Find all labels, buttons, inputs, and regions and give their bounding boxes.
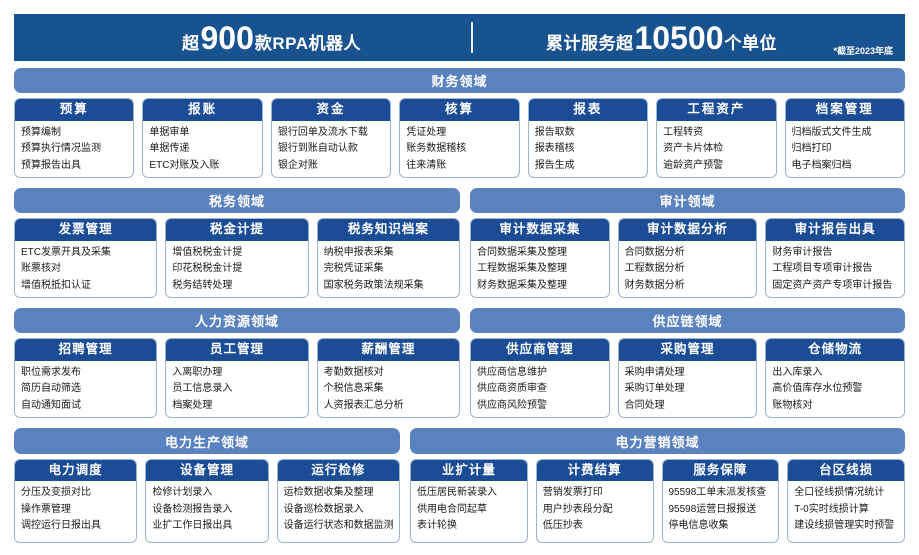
card-item: 凭证处理	[406, 126, 512, 141]
section-cards-power-marketing: 业扩计量 低压居民新装录入 供用电合同起草 表计轮换 计费结算 营销发票打印 用…	[410, 459, 905, 543]
section-supply-chain: 供应链领域 供应商管理 供应商信息维护 供应商资质审查 供应商风险预警 采购管理…	[470, 308, 905, 418]
card-title: 台区线损	[788, 460, 904, 481]
card-item: 出入库录入	[772, 366, 898, 381]
card-compensation-management[interactable]: 薪酬管理 考勤数据核对 个税信息采集 人资报表汇总分析	[317, 338, 460, 418]
card-item: 调控运行日报出具	[21, 519, 130, 534]
card-item: 低压居民新装录入	[417, 486, 521, 501]
card-body: ETC发票开具及采集 账票核对 增值税抵扣认证	[15, 241, 156, 298]
card-equipment-management[interactable]: 设备管理 检修计划录入 设备检测报告录入 业扩工作日报出具	[145, 459, 268, 543]
card-item: 预算编制	[21, 126, 127, 141]
card-item: 报告生成	[535, 159, 641, 174]
stat-service-number: 10500	[634, 22, 725, 54]
card-body: 分压及变损对比 操作票管理 调控运行日报出具	[15, 481, 136, 542]
card-body: 报告取数 报表稽核 报告生成	[529, 121, 647, 178]
section-cards-supply-chain: 供应商管理 供应商信息维护 供应商资质审查 供应商风险预警 采购管理 采购申请处…	[470, 338, 905, 418]
card-item: 固定资产资产专项审计报告	[772, 279, 898, 294]
card-body: 纳税申报表采集 完税凭证采集 国家税务政策法规采集	[318, 241, 459, 298]
card-body: 工程转资 资产卡片体检 逾龄资产预警	[657, 121, 775, 178]
card-body: 合同数据分析 工程数据分析 财务数据分析	[619, 241, 757, 298]
section-title-power-marketing: 电力营销领域	[410, 428, 905, 454]
card-item: 财务审计报告	[772, 246, 898, 261]
section-tax: 税务领域 发票管理 ETC发票开具及采集 账票核对 增值税抵扣认证 税金计提 增…	[14, 188, 460, 298]
section-cards-hr: 招聘管理 职位需求发布 简历自动筛选 自动通知面试 员工管理 入离职办理 员工信…	[14, 338, 460, 418]
card-body: 采购申请处理 采购订单处理 合同处理	[619, 361, 757, 418]
card-business-expansion-metering[interactable]: 业扩计量 低压居民新装录入 供用电合同起草 表计轮换	[410, 459, 528, 543]
card-title: 核算	[400, 99, 518, 120]
card-title: 薪酬管理	[318, 339, 459, 360]
card-item: 报告取数	[535, 126, 641, 141]
card-item: 银行回单及流水下载	[278, 126, 384, 141]
card-item: 自动通知面试	[21, 399, 150, 414]
card-body: 银行回单及流水下载 银行到账自动认款 银企对账	[272, 121, 390, 178]
card-item: 人资报表汇总分析	[324, 399, 453, 414]
card-title: 电力调度	[15, 460, 136, 481]
card-item: 采购申请处理	[625, 366, 751, 381]
card-item: 个税信息采集	[324, 382, 453, 397]
card-item: 财务数据采集及整理	[477, 279, 603, 294]
card-item: ETC发票开具及采集	[21, 246, 150, 261]
top-stats-inner: 超 900 款RPA机器人 累计服务超 10500 个单位 *截至2023年底	[14, 14, 905, 61]
card-title: 税务知识档案	[318, 219, 459, 240]
card-body: 凭证处理 账务数据稽核 往来清账	[400, 121, 518, 178]
card-item: 工程数据采集及整理	[477, 262, 603, 277]
stat-robot-prefix: 超	[182, 35, 200, 52]
card-item: 账物核对	[772, 399, 898, 414]
card-body: 出入库录入 高价值库存水位预警 账物核对	[766, 361, 904, 418]
card-title: 税金计提	[166, 219, 307, 240]
card-title: 预算	[15, 99, 133, 120]
card-service-assurance[interactable]: 服务保障 95598工单未派发核查 95598运营日报报送 停电信息收集	[662, 459, 780, 543]
card-item: 归档版式文件生成	[792, 126, 898, 141]
card-item: 分压及变损对比	[21, 486, 130, 501]
card-title: 审计数据采集	[471, 219, 609, 240]
card-accounting[interactable]: 核算 凭证处理 账务数据稽核 往来清账	[399, 98, 519, 178]
card-title: 发票管理	[15, 219, 156, 240]
card-employee-management[interactable]: 员工管理 入离职办理 员工信息录入 档案处理	[165, 338, 308, 418]
card-item: 税务结转处理	[172, 279, 301, 294]
section-title-supply-chain: 供应链领域	[470, 308, 905, 333]
card-body: 财务审计报告 工程项目专项审计报告 固定资产资产专项审计报告	[766, 241, 904, 298]
card-item: 合同数据分析	[625, 246, 751, 261]
card-item: T-0实时线损计算	[794, 503, 898, 518]
card-reports[interactable]: 报表 报告取数 报表稽核 报告生成	[528, 98, 648, 178]
card-item: 设备检测报告录入	[152, 503, 261, 518]
card-audit-data-collection[interactable]: 审计数据采集 合同数据采集及整理 工程数据采集及整理 财务数据采集及整理	[470, 218, 610, 298]
section-cards-tax: 发票管理 ETC发票开具及采集 账票核对 增值税抵扣认证 税金计提 增值税税金计…	[14, 218, 460, 298]
card-item: 国家税务政策法规采集	[324, 279, 453, 294]
card-procurement-management[interactable]: 采购管理 采购申请处理 采购订单处理 合同处理	[618, 338, 758, 418]
card-item: 供应商资质审查	[477, 382, 603, 397]
row-finance: 财务领域 预算 预算编制 预算执行情况监测 预算报告出具 报账 单据审单 单据传…	[14, 68, 905, 178]
card-title: 服务保障	[663, 460, 779, 481]
card-item: 档案处理	[172, 399, 301, 414]
card-item: 银行到账自动认款	[278, 142, 384, 157]
card-body: 供应商信息维护 供应商资质审查 供应商风险预警	[471, 361, 609, 418]
card-item: 预算执行情况监测	[21, 142, 127, 157]
card-title: 业扩计量	[411, 460, 527, 481]
card-recruitment-management[interactable]: 招聘管理 职位需求发布 简历自动筛选 自动通知面试	[14, 338, 157, 418]
card-body: 单据审单 单据传递 ETC对账及入账	[143, 121, 261, 178]
card-item: 职位需求发布	[21, 366, 150, 381]
card-body: 归档版式文件生成 归档打印 电子档案归档	[786, 121, 904, 178]
card-item: 账务数据稽核	[406, 142, 512, 157]
section-cards-finance: 预算 预算编制 预算执行情况监测 预算报告出具 报账 单据审单 单据传递 ETC…	[14, 98, 905, 178]
card-item: 完税凭证采集	[324, 262, 453, 277]
card-body: 预算编制 预算执行情况监测 预算报告出具	[15, 121, 133, 178]
card-item: 采购订单处理	[625, 382, 751, 397]
card-item: 运检数据收集及整理	[284, 486, 393, 501]
as-of-date-note: *截至2023年底	[833, 44, 893, 57]
card-body: 95598工单未派发核查 95598运营日报报送 停电信息收集	[663, 481, 779, 542]
card-item: 用户抄表段分配	[543, 503, 647, 518]
section-title-hr: 人力资源领域	[14, 308, 460, 333]
card-item: 银企对账	[278, 159, 384, 174]
card-item: 往来清账	[406, 159, 512, 174]
card-title: 档案管理	[786, 99, 904, 120]
card-body: 入离职办理 员工信息录入 档案处理	[166, 361, 307, 418]
card-item: 高价值库存水位预警	[772, 382, 898, 397]
stat-robot-number: 900	[200, 22, 255, 54]
card-body: 营销发票打印 用户抄表段分配 低压抄表	[537, 481, 653, 542]
card-item: 设备运行状态和数据监测	[284, 519, 393, 534]
section-title-finance: 财务领域	[14, 68, 905, 93]
stat-service-count: 累计服务超 10500 个单位	[546, 22, 777, 54]
card-reimbursement[interactable]: 报账 单据审单 单据传递 ETC对账及入账	[142, 98, 262, 178]
card-item: 单据审单	[149, 126, 255, 141]
card-item: 建设线损管理实时预警	[794, 519, 898, 534]
card-title: 设备管理	[146, 460, 267, 481]
card-body: 检修计划录入 设备检测报告录入 业扩工作日报出具	[146, 481, 267, 542]
card-item: 预算报告出具	[21, 159, 127, 174]
card-body: 考勤数据核对 个税信息采集 人资报表汇总分析	[318, 361, 459, 418]
section-title-power-production: 电力生产领域	[14, 428, 400, 454]
card-item: 设备巡检数据录入	[284, 503, 393, 518]
card-power-dispatch[interactable]: 电力调度 分压及变损对比 操作票管理 调控运行日报出具	[14, 459, 137, 543]
card-title: 报表	[529, 99, 647, 120]
card-title: 报账	[143, 99, 261, 120]
card-item: 逾龄资产预警	[663, 159, 769, 174]
card-title: 员工管理	[166, 339, 307, 360]
card-body: 全口径线损情况统计 T-0实时线损计算 建设线损管理实时预警	[788, 481, 904, 542]
card-item: 工程转资	[663, 126, 769, 141]
card-body: 合同数据采集及整理 工程数据采集及整理 财务数据采集及整理	[471, 241, 609, 298]
card-billing-settlement[interactable]: 计费结算 营销发票打印 用户抄表段分配 低压抄表	[536, 459, 654, 543]
card-title: 审计报告出具	[766, 219, 904, 240]
card-item: 资产卡片体检	[663, 142, 769, 157]
card-audit-report-issue[interactable]: 审计报告出具 财务审计报告 工程项目专项审计报告 固定资产资产专项审计报告	[765, 218, 905, 298]
card-item: 全口径线损情况统计	[794, 486, 898, 501]
card-title: 计费结算	[537, 460, 653, 481]
section-hr: 人力资源领域 招聘管理 职位需求发布 简历自动筛选 自动通知面试 员工管理 入离…	[14, 308, 460, 418]
section-power-marketing: 电力营销领域 业扩计量 低压居民新装录入 供用电合同起草 表计轮换 计费结算 营…	[410, 428, 905, 543]
stat-robot-suffix: 款RPA机器人	[255, 35, 361, 52]
card-archive-management[interactable]: 档案管理 归档版式文件生成 归档打印 电子档案归档	[785, 98, 905, 178]
top-stats-banner: 超 900 款RPA机器人 累计服务超 10500 个单位 *截至2023年底	[14, 14, 905, 61]
card-tax-knowledge-archive[interactable]: 税务知识档案 纳税申报表采集 完税凭证采集 国家税务政策法规采集	[317, 218, 460, 298]
card-supplier-management[interactable]: 供应商管理 供应商信息维护 供应商资质审查 供应商风险预警	[470, 338, 610, 418]
card-title: 采购管理	[619, 339, 757, 360]
card-item: 增值税抵扣认证	[21, 279, 150, 294]
card-item: 合同处理	[625, 399, 751, 414]
card-item: 停电信息收集	[669, 519, 773, 534]
card-item: ETC对账及入账	[149, 159, 255, 174]
section-cards-power-production: 电力调度 分压及变损对比 操作票管理 调控运行日报出具 设备管理 检修计划录入 …	[14, 459, 400, 543]
card-item: 财务数据分析	[625, 279, 751, 294]
card-item: 归档打印	[792, 142, 898, 157]
card-item: 业扩工作日报出具	[152, 519, 261, 534]
card-item: 印花税税金计提	[172, 262, 301, 277]
stat-service-suffix: 个单位	[724, 35, 777, 52]
card-audit-data-analysis[interactable]: 审计数据分析 合同数据分析 工程数据分析 财务数据分析	[618, 218, 758, 298]
card-item: 纳税申报表采集	[324, 246, 453, 261]
card-body: 职位需求发布 简历自动筛选 自动通知面试	[15, 361, 156, 418]
card-item: 简历自动筛选	[21, 382, 150, 397]
card-item: 员工信息录入	[172, 382, 301, 397]
card-item: 工程项目专项审计报告	[772, 262, 898, 277]
card-body: 低压居民新装录入 供用电合同起草 表计轮换	[411, 481, 527, 542]
card-title: 仓储物流	[766, 339, 904, 360]
card-item: 供用电合同起草	[417, 503, 521, 518]
section-title-audit: 审计领域	[470, 188, 905, 213]
card-body: 增值税税金计提 印花税税金计提 税务结转处理	[166, 241, 307, 298]
stat-service-prefix: 累计服务超	[546, 35, 634, 52]
card-title: 工程资产	[657, 99, 775, 120]
row-hr-supply: 人力资源领域 招聘管理 职位需求发布 简历自动筛选 自动通知面试 员工管理 入离…	[14, 308, 905, 418]
card-item: 95598运营日报报送	[669, 503, 773, 518]
section-title-tax: 税务领域	[14, 188, 460, 213]
card-item: 工程数据分析	[625, 262, 751, 277]
card-title: 招聘管理	[15, 339, 156, 360]
card-item: 考勤数据核对	[324, 366, 453, 381]
card-title: 审计数据分析	[619, 219, 757, 240]
card-operation-maintenance[interactable]: 运行检修 运检数据收集及整理 设备巡检数据录入 设备运行状态和数据监测	[277, 459, 400, 543]
card-item: 账票核对	[21, 262, 150, 277]
stat-robot-count: 超 900 款RPA机器人	[182, 22, 361, 54]
card-project-assets[interactable]: 工程资产 工程转资 资产卡片体检 逾龄资产预警	[656, 98, 776, 178]
section-cards-audit: 审计数据采集 合同数据采集及整理 工程数据采集及整理 财务数据采集及整理 审计数…	[470, 218, 905, 298]
card-budget[interactable]: 预算 预算编制 预算执行情况监测 预算报告出具	[14, 98, 134, 178]
card-item: 合同数据采集及整理	[477, 246, 603, 261]
section-finance: 财务领域 预算 预算编制 预算执行情况监测 预算报告出具 报账 单据审单 单据传…	[14, 68, 905, 178]
card-funds[interactable]: 资金 银行回单及流水下载 银行到账自动认款 银企对账	[271, 98, 391, 178]
card-item: 电子档案归档	[792, 159, 898, 174]
section-audit: 审计领域 审计数据采集 合同数据采集及整理 工程数据采集及整理 财务数据采集及整…	[470, 188, 905, 298]
section-power-production: 电力生产领域 电力调度 分压及变损对比 操作票管理 调控运行日报出具 设备管理 …	[14, 428, 400, 543]
card-title: 资金	[272, 99, 390, 120]
card-item: 表计轮换	[417, 519, 521, 534]
card-invoice-management[interactable]: 发票管理 ETC发票开具及采集 账票核对 增值税抵扣认证	[14, 218, 157, 298]
row-tax-audit: 税务领域 发票管理 ETC发票开具及采集 账票核对 增值税抵扣认证 税金计提 增…	[14, 188, 905, 298]
card-item: 检修计划录入	[152, 486, 261, 501]
stats-divider	[471, 22, 473, 53]
card-item: 95598工单未派发核查	[669, 486, 773, 501]
card-item: 营销发票打印	[543, 486, 647, 501]
row-power: 电力生产领域 电力调度 分压及变损对比 操作票管理 调控运行日报出具 设备管理 …	[14, 428, 905, 543]
card-item: 入离职办理	[172, 366, 301, 381]
card-substation-line-loss[interactable]: 台区线损 全口径线损情况统计 T-0实时线损计算 建设线损管理实时预警	[787, 459, 905, 543]
card-item: 单据传递	[149, 142, 255, 157]
card-item: 操作票管理	[21, 503, 130, 518]
card-title: 供应商管理	[471, 339, 609, 360]
card-item: 低压抄表	[543, 519, 647, 534]
card-item: 报表稽核	[535, 142, 641, 157]
rpa-capability-map: 超 900 款RPA机器人 累计服务超 10500 个单位 *截至2023年底 …	[0, 0, 919, 555]
card-title: 运行检修	[278, 460, 399, 481]
card-body: 运检数据收集及整理 设备巡检数据录入 设备运行状态和数据监测	[278, 481, 399, 542]
card-item: 供应商信息维护	[477, 366, 603, 381]
card-warehouse-logistics[interactable]: 仓储物流 出入库录入 高价值库存水位预警 账物核对	[765, 338, 905, 418]
card-item: 供应商风险预警	[477, 399, 603, 414]
card-item: 增值税税金计提	[172, 246, 301, 261]
card-tax-accrual[interactable]: 税金计提 增值税税金计提 印花税税金计提 税务结转处理	[165, 218, 308, 298]
